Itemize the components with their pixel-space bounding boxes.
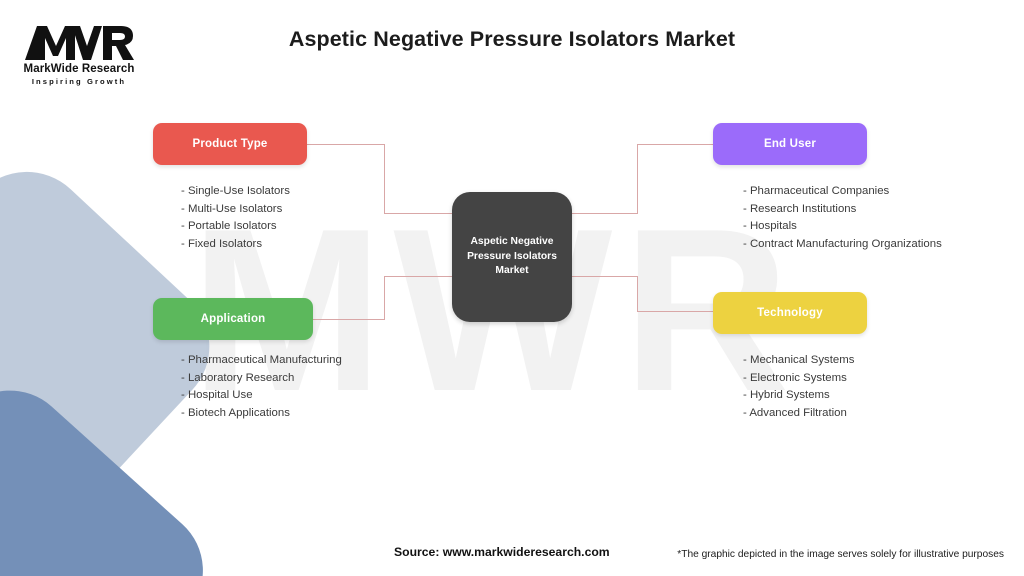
connector-technology-segment-1 [637,311,715,312]
list-item: - Research Institutions [743,201,942,219]
connector-product-type-segment-2 [384,144,385,214]
list-item: - Mechanical Systems [743,352,867,370]
list-item: - Hospitals [743,218,942,236]
list-item: - Pharmaceutical Manufacturing [181,352,342,370]
brand-tagline: Inspiring Growth [14,77,144,86]
list-item: - Hospital Use [181,387,342,405]
category-end-user: End User - Pharmaceutical Companies - Re… [713,123,942,269]
source-label: Source: www.markwideresearch.com [394,545,610,559]
category-pill-end-user[interactable]: End User [713,123,867,165]
disclaimer-label: *The graphic depicted in the image serve… [677,549,1004,560]
category-technology: Technology - Mechanical Systems - Electr… [713,292,867,438]
category-pill-application[interactable]: Application [153,298,313,340]
list-item: - Biotech Applications [181,405,342,423]
category-application: Application - Pharmaceutical Manufacturi… [153,298,342,438]
category-label-end-user: End User [764,138,816,150]
list-item: - Multi-Use Isolators [181,201,307,219]
connector-product-type-segment-3 [384,213,459,214]
connector-technology-segment-3 [565,276,638,277]
connector-end-user-segment-2 [637,144,638,214]
list-item: - Single-Use Isolators [181,183,307,201]
category-label-product-type: Product Type [192,138,267,150]
list-item: - Electronic Systems [743,370,867,388]
connector-product-type-segment-1 [307,144,385,145]
category-product-type: Product Type - Single-Use Isolators - Mu… [153,123,307,269]
center-node[interactable]: Aspetic Negative Pressure Isolators Mark… [452,192,572,322]
connector-end-user-segment-3 [565,213,638,214]
list-item: - Fixed Isolators [181,236,307,254]
list-item: - Contract Manufacturing Organizations [743,236,942,254]
category-label-application: Application [201,313,266,325]
list-item: - Hybrid Systems [743,387,867,405]
list-item: - Pharmaceutical Companies [743,183,942,201]
center-node-label: Aspetic Negative Pressure Isolators Mark… [452,235,572,279]
category-list-application: - Pharmaceutical Manufacturing - Laborat… [153,352,342,422]
connector-end-user-segment-1 [637,144,715,145]
category-list-technology: - Mechanical Systems - Electronic System… [713,352,867,422]
list-item: - Laboratory Research [181,370,342,388]
brand-name: MarkWide Research [14,63,144,75]
category-pill-product-type[interactable]: Product Type [153,123,307,165]
slide-canvas: MWR MarkWide Research Inspiring Growth A… [0,0,1024,576]
connector-technology-segment-2 [637,276,638,312]
connector-application-segment-3 [384,276,460,277]
category-list-end-user: - Pharmaceutical Companies - Research In… [713,183,942,253]
category-pill-technology[interactable]: Technology [713,292,867,334]
list-item: - Advanced Filtration [743,405,867,423]
list-item: - Portable Isolators [181,218,307,236]
connector-application-segment-2 [384,276,385,320]
page-title: Aspetic Negative Pressure Isolators Mark… [0,27,1024,52]
category-list-product-type: - Single-Use Isolators - Multi-Use Isola… [153,183,307,253]
category-label-technology: Technology [757,307,823,319]
